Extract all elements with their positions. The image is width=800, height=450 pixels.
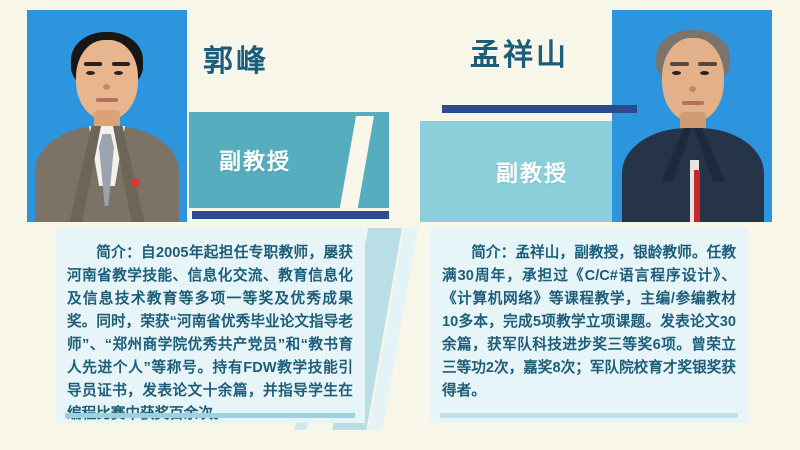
- portrait-photo-right: [612, 10, 772, 222]
- portrait-lapel-pin: [131, 178, 140, 187]
- bio-card-right: 简介：孟祥山，副教授，银龄教师。任教满30周年，承担过《C/C#语言程序设计》、…: [430, 228, 748, 423]
- portrait-eye-left: [86, 71, 95, 75]
- portrait-face: [76, 40, 138, 120]
- role-band-right: 副教授: [420, 121, 635, 222]
- footer-strip: [0, 430, 800, 450]
- portrait-eye-right: [700, 71, 709, 75]
- portrait-eye-right: [114, 71, 123, 75]
- person-name-right: 孟祥山: [470, 30, 569, 74]
- role-label-left: 副教授: [219, 144, 291, 176]
- bio-card-footer-bar-right: [440, 413, 738, 418]
- portrait-nose: [689, 86, 696, 92]
- portrait-brow-right: [698, 62, 717, 66]
- portrait-brow-left: [670, 62, 689, 66]
- bio-card-footer-bar-left: [65, 413, 355, 418]
- role-label-right: 副教授: [496, 156, 568, 188]
- portrait-placket-stripe: [694, 170, 700, 222]
- navy-rule-right: [442, 105, 637, 113]
- portrait-brow-right: [112, 62, 130, 66]
- portrait-photo-left: [27, 10, 187, 222]
- navy-rule-left: [192, 211, 389, 219]
- left-margin: [0, 0, 22, 450]
- portrait-mouth: [96, 98, 118, 102]
- portrait-mouth: [682, 101, 704, 105]
- portrait-brow-left: [84, 62, 102, 66]
- bio-text-left: 简介：自2005年起担任专职教师，屡获河南省教学技能、信息化交流、教育信息化及信…: [55, 228, 365, 426]
- portrait-nose: [103, 84, 110, 90]
- portrait-eye-left: [672, 71, 681, 75]
- slide-canvas: 副教授 副教授: [0, 0, 800, 450]
- person-name-left: 郭峰: [203, 36, 269, 80]
- bio-card-left: 简介：自2005年起担任专职教师，屡获河南省教学技能、信息化交流、教育信息化及信…: [55, 228, 365, 423]
- portrait-face: [662, 38, 724, 122]
- bio-text-right: 简介：孟祥山，副教授，银龄教师。任教满30周年，承担过《C/C#语言程序设计》、…: [430, 228, 748, 403]
- right-margin: [780, 0, 800, 450]
